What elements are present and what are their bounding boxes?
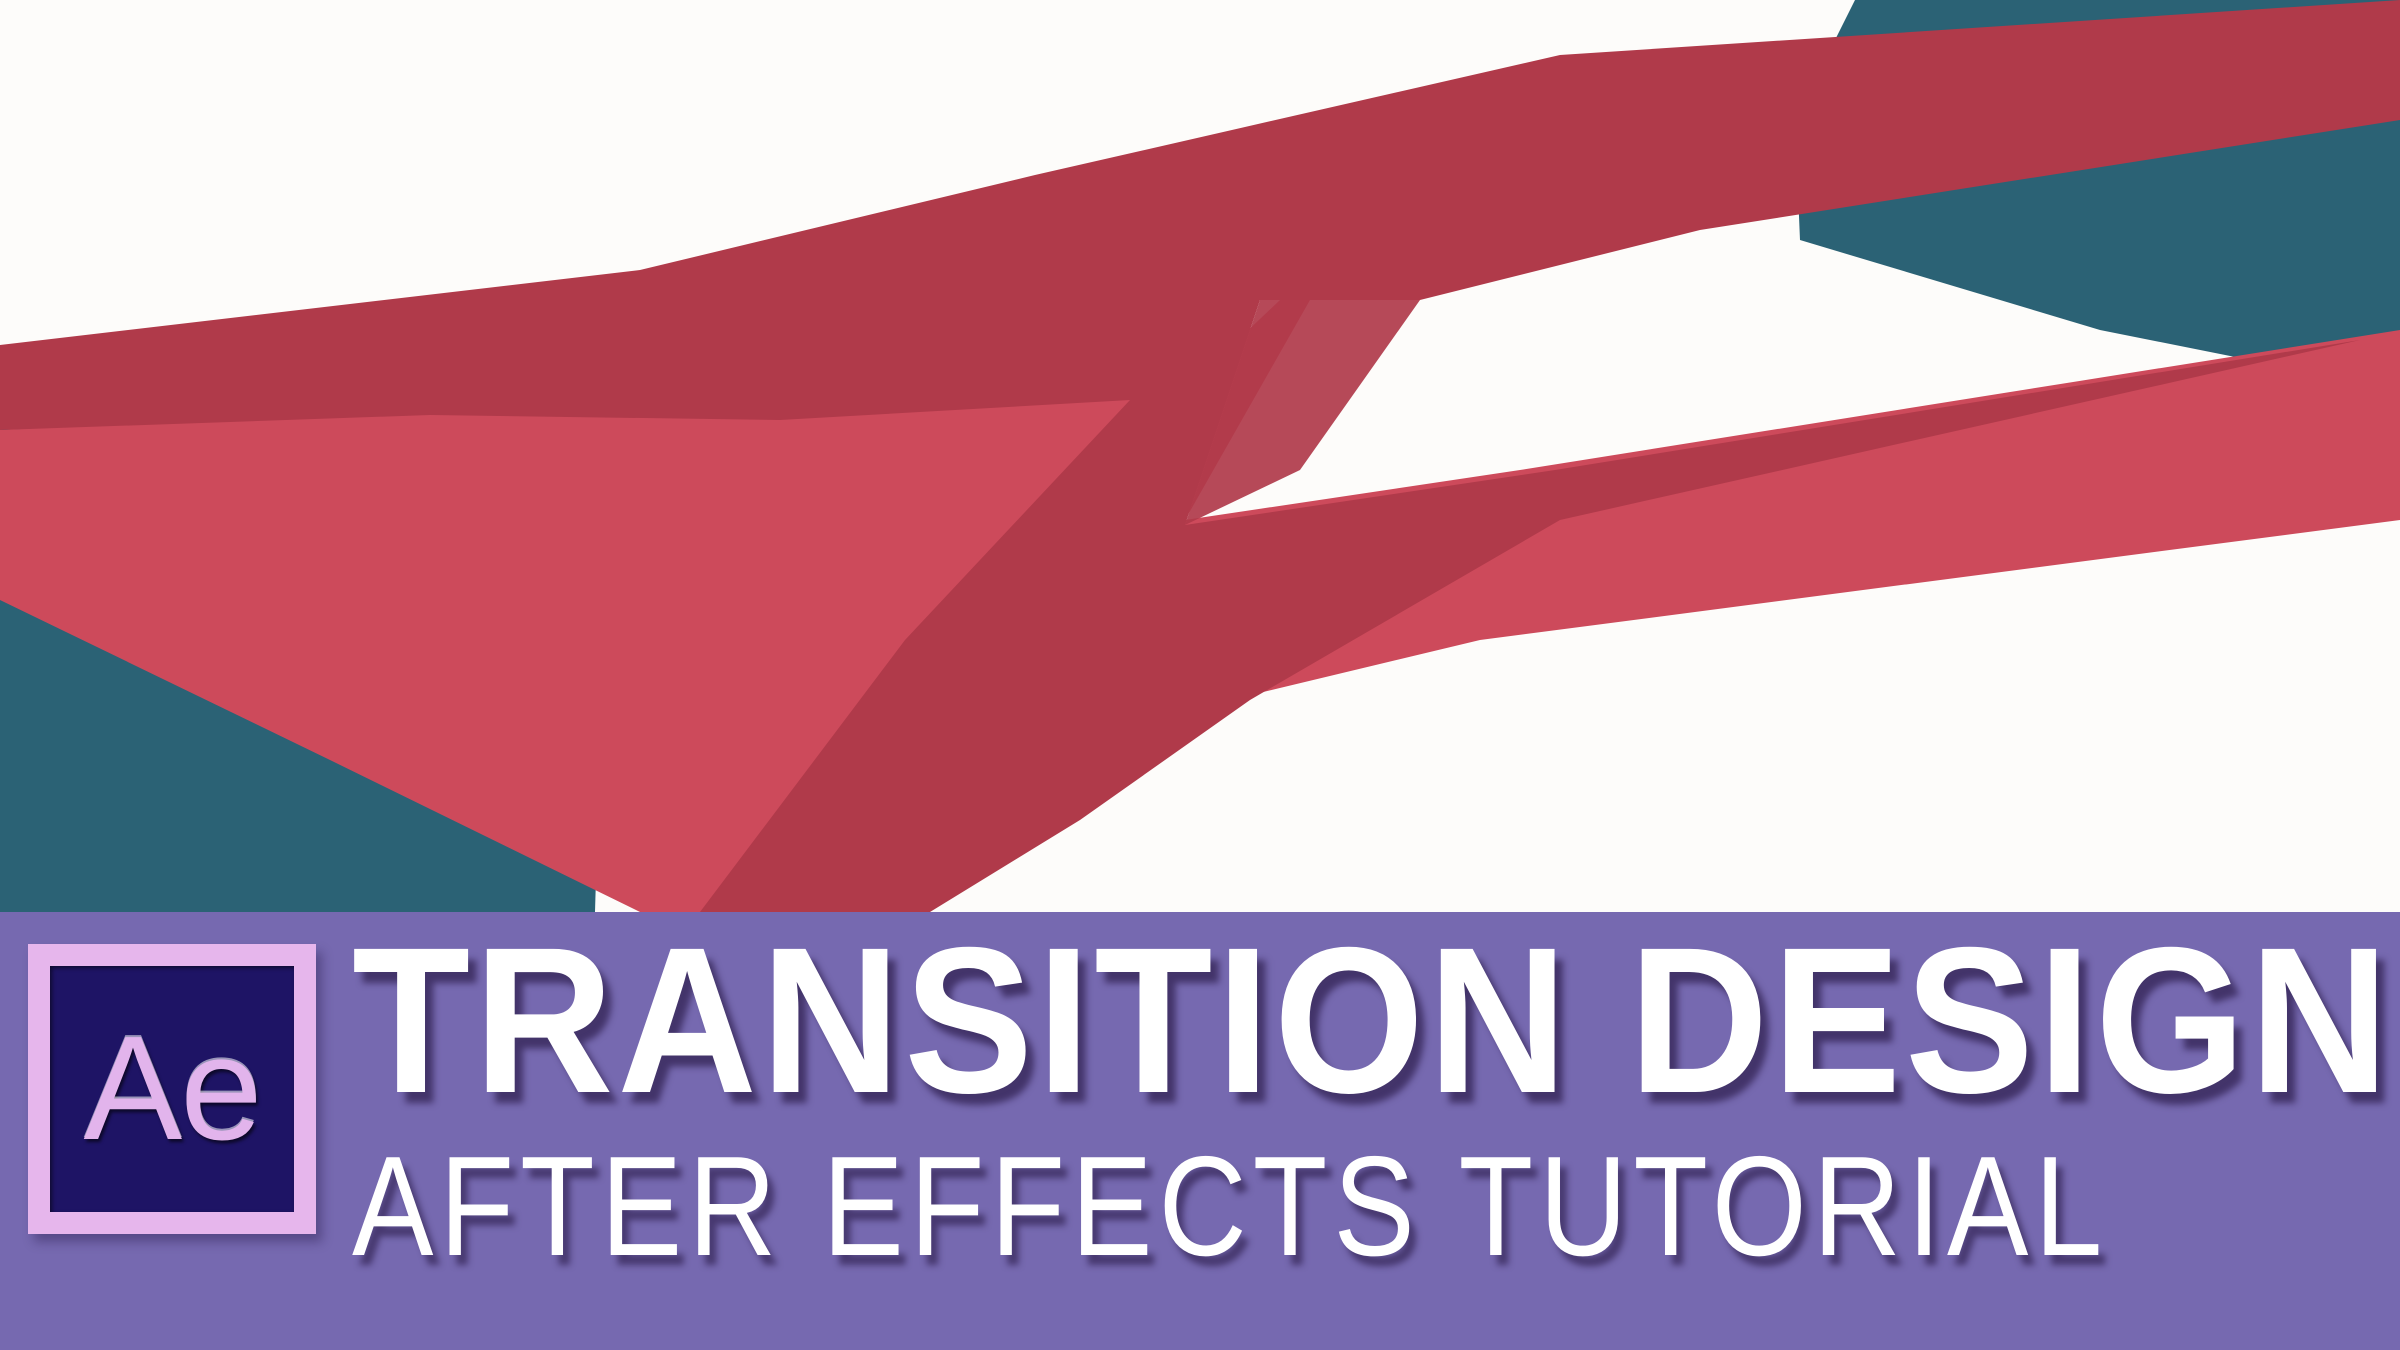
after-effects-logo-glyph: Ae <box>83 1015 260 1163</box>
youtube-thumbnail: Ae TRANSITION DESIGN AFTER EFFECTS TUTOR… <box>0 0 2400 1350</box>
banner-text-block: TRANSITION DESIGN AFTER EFFECTS TUTORIAL <box>352 926 2372 1280</box>
artwork-panel <box>0 0 2400 912</box>
after-effects-logo-inner: Ae <box>50 966 294 1212</box>
page-title: TRANSITION DESIGN <box>352 926 2231 1117</box>
abstract-transition-graphic <box>0 0 2400 912</box>
page-subtitle: AFTER EFFECTS TUTORIAL <box>352 1135 2089 1280</box>
after-effects-logo: Ae <box>28 944 316 1234</box>
title-banner: Ae TRANSITION DESIGN AFTER EFFECTS TUTOR… <box>0 912 2400 1350</box>
